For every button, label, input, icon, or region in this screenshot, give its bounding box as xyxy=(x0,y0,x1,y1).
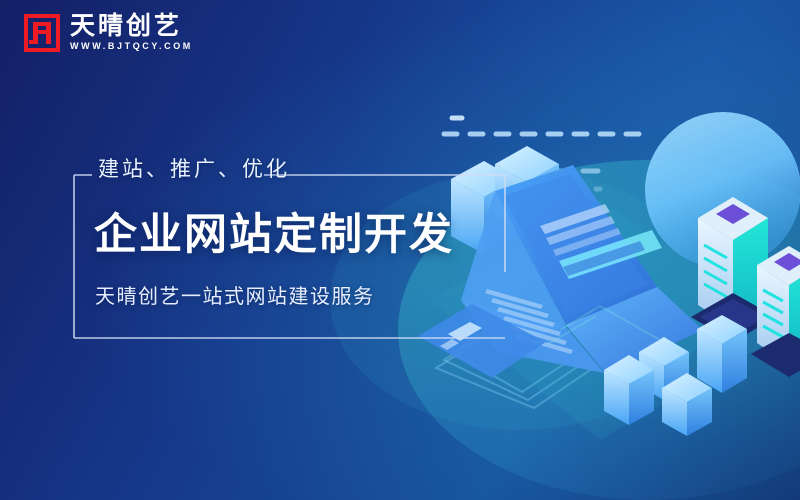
page-title: 企业网站定制开发 xyxy=(94,200,454,262)
logo-mark-icon xyxy=(24,14,60,52)
server-rack-small xyxy=(751,246,800,377)
logo-text: 天晴创艺 WWW.BJTQCY.COM xyxy=(70,13,193,52)
promo-banner: 天晴创艺 WWW.BJTQCY.COM 建站、推广、优化 企业网站定制开发 天晴… xyxy=(0,0,800,500)
headline-block: 建站、推广、优化 企业网站定制开发 天晴创艺一站式网站建设服务 xyxy=(68,162,518,348)
logo-company-name: 天晴创艺 xyxy=(70,13,193,39)
eyebrow-text: 建站、推广、优化 xyxy=(98,153,290,183)
logo[interactable]: 天晴创艺 WWW.BJTQCY.COM xyxy=(24,13,193,52)
logo-website-url: WWW.BJTQCY.COM xyxy=(70,42,193,52)
tagline-text: 天晴创艺一站式网站建设服务 xyxy=(95,280,375,309)
